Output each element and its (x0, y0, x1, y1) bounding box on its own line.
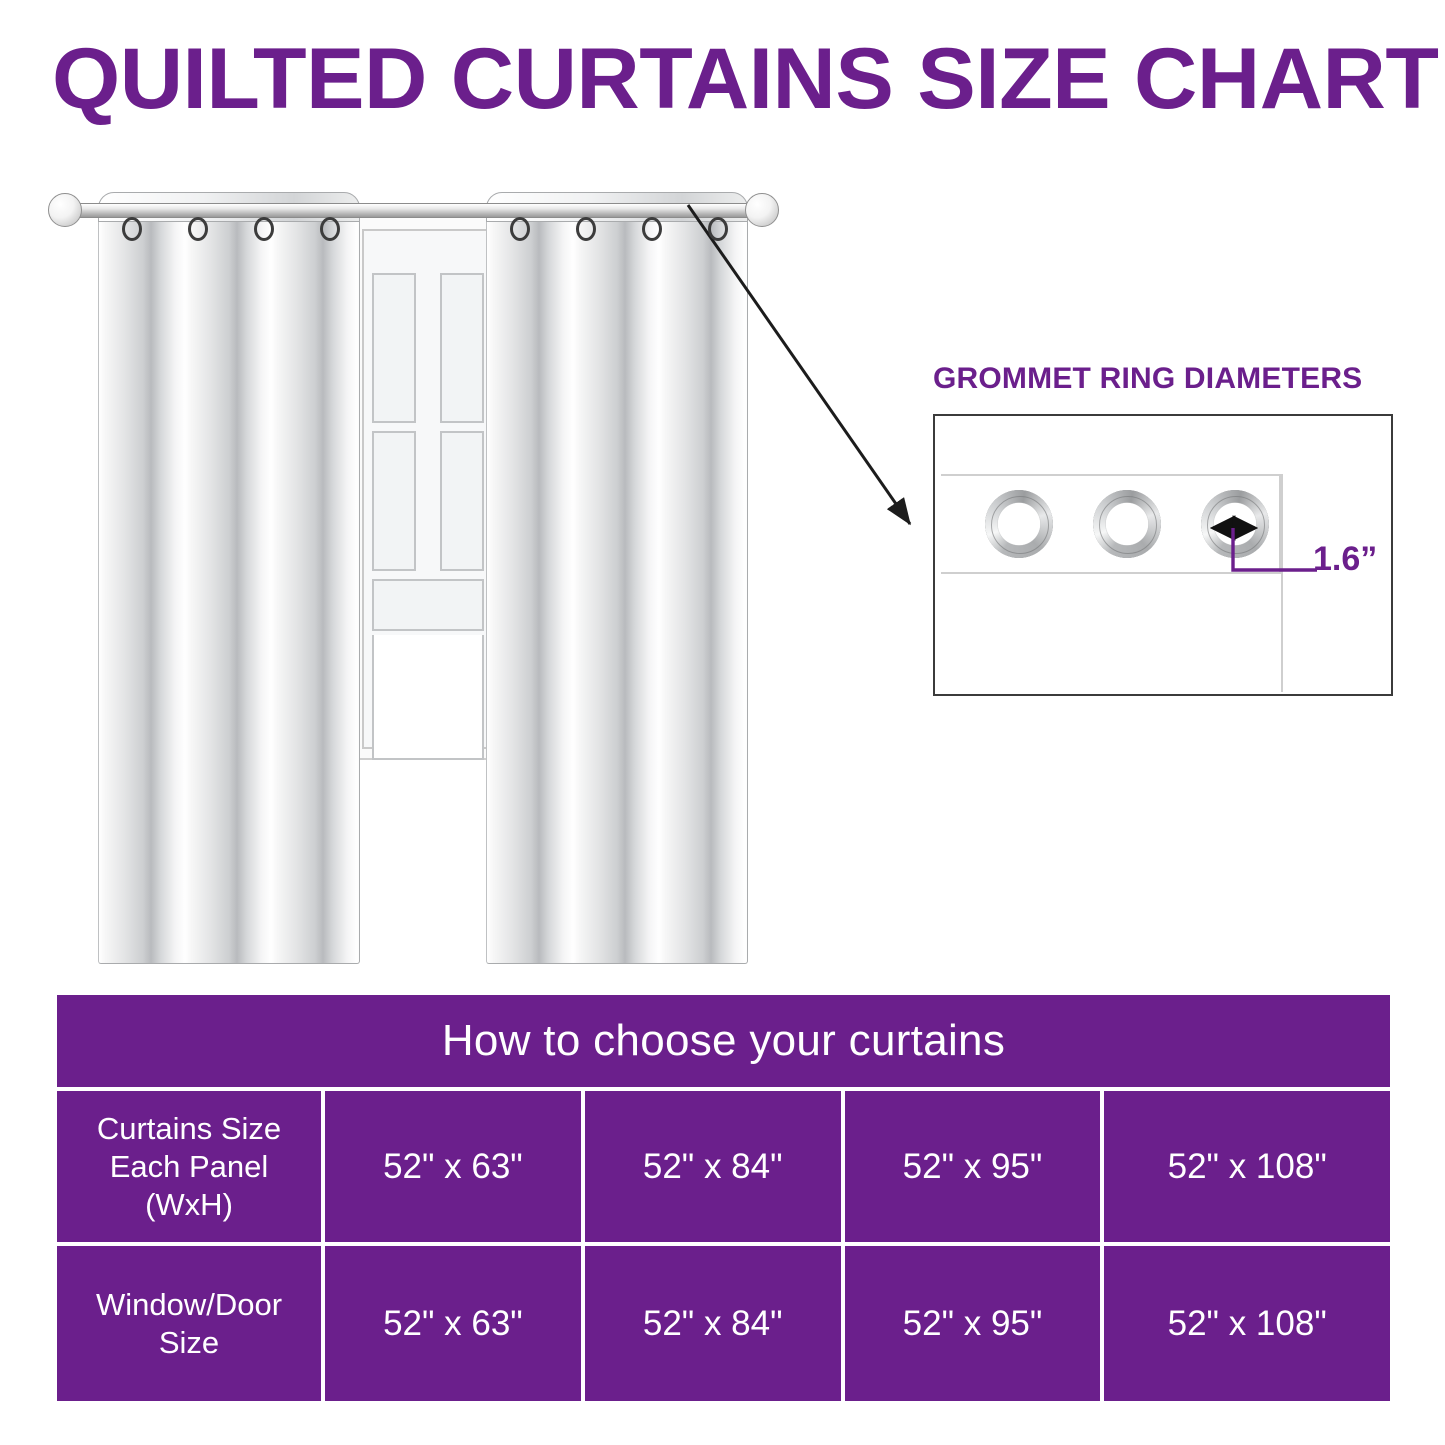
table-row: Curtains Size Each Panel (WxH) 52" x 63"… (57, 1091, 1390, 1246)
curtain-fabric (486, 204, 748, 964)
grommet-icon (708, 217, 728, 241)
fabric-edge-line (1281, 474, 1283, 692)
table-cell: 52" x 84" (585, 1091, 845, 1246)
window-pane (440, 273, 484, 423)
row-label-curtain-size: Curtains Size Each Panel (WxH) (57, 1091, 325, 1246)
row-label-line: Each Panel (110, 1149, 269, 1184)
window-door-graphic (350, 215, 500, 760)
table-cell: 52" x 84" (585, 1246, 845, 1401)
grommet-icon (188, 217, 208, 241)
window-pane (372, 273, 416, 423)
grommet-icon (122, 217, 142, 241)
table-row: Window/Door Size 52" x 63" 52" x 84" 52"… (57, 1246, 1390, 1401)
window-rail (372, 579, 484, 631)
size-chart-page: QUILTED CURTAINS SIZE CHART (0, 0, 1445, 1445)
page-title: QUILTED CURTAINS SIZE CHART (52, 34, 1424, 124)
row-label-window-door-size: Window/Door Size (57, 1246, 325, 1401)
rod-finial-right-icon (745, 193, 779, 227)
grommet-icon (510, 217, 530, 241)
table-cell: 52" x 95" (845, 1091, 1105, 1246)
row-label-line: Curtains Size (97, 1111, 281, 1146)
table-cell: 52" x 108" (1104, 1091, 1390, 1246)
table-cell: 52" x 95" (845, 1246, 1105, 1401)
grommet-icon (576, 217, 596, 241)
window-frame (362, 229, 492, 749)
rod-finial-left-icon (48, 193, 82, 227)
grommet-icon (254, 217, 274, 241)
grommet-icon (320, 217, 340, 241)
grommet-ring-icon (1201, 490, 1269, 558)
table-title-cell: How to choose your curtains (57, 995, 1390, 1091)
size-table: How to choose your curtains Curtains Siz… (57, 995, 1390, 1401)
grommet-dimension-label: 1.6” (1313, 540, 1377, 579)
table-header-row: How to choose your curtains (57, 995, 1390, 1091)
grommet-icon (642, 217, 662, 241)
grommet-ring-icon (1093, 490, 1161, 558)
table-cell: 52" x 108" (1104, 1246, 1390, 1401)
window-pane (372, 431, 416, 571)
grommet-panel-title: GROMMET RING DIAMETERS (933, 362, 1362, 396)
row-label-line: Window/Door (96, 1287, 282, 1322)
row-label-line: (WxH) (145, 1187, 233, 1222)
curtain-illustration (40, 160, 820, 970)
window-pane (440, 431, 484, 571)
grommet-detail-panel: GROMMET RING DIAMETERS 1.6” (925, 362, 1405, 714)
curtain-fabric (98, 204, 360, 964)
curtain-rod (62, 203, 772, 218)
table-cell: 52" x 63" (325, 1246, 585, 1401)
grommet-ring-icon (985, 490, 1053, 558)
window-lower-panel (372, 635, 484, 760)
table-cell: 52" x 63" (325, 1091, 585, 1246)
row-label-line: Size (159, 1325, 219, 1360)
